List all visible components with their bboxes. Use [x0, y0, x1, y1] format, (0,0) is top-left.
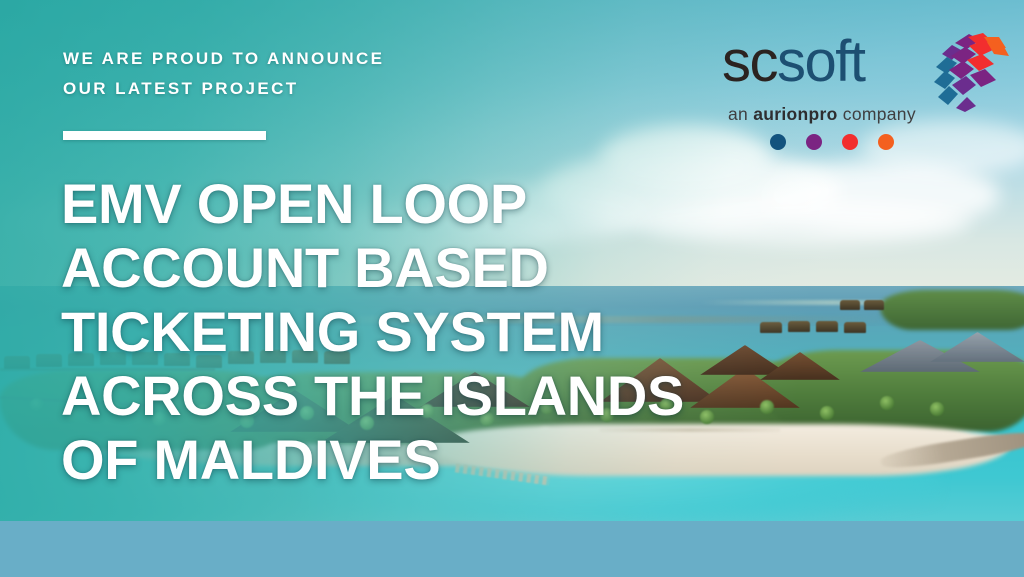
page-title: EMV OPEN LOOP ACCOUNT BASED TICKETING SY… [61, 172, 701, 492]
logo-wordmark-sc: sc [722, 29, 777, 94]
footer-bar [0, 521, 1024, 577]
scsoft-quilt-mark-icon [925, 28, 1009, 112]
logo-wordmark-soft: soft [777, 29, 865, 94]
headline-line-4: ACROSS THE ISLANDS [61, 364, 701, 428]
dot-blue [770, 134, 786, 150]
dot-purple [806, 134, 822, 150]
eyebrow-line-2: OUR LATEST PROJECT [63, 74, 583, 104]
tagline-suffix: company [838, 104, 916, 124]
headline-line-3: TICKETING SYSTEM [61, 300, 701, 364]
dot-orange [878, 134, 894, 150]
headline-line-1: EMV OPEN LOOP [61, 172, 701, 236]
logo-tagline: an aurionpro company [728, 104, 916, 125]
headline-line-2: ACCOUNT BASED [61, 236, 701, 300]
eyebrow-line-1: WE ARE PROUD TO ANNOUNCE [63, 44, 583, 74]
logo-wordmark: scsoft [722, 33, 865, 91]
headline-line-5: OF MALDIVES [61, 428, 701, 492]
tagline-prefix: an [728, 104, 753, 124]
divider-rule [63, 131, 266, 140]
scsoft-logo[interactable]: scsoft [722, 33, 1002, 161]
eyebrow-text: WE ARE PROUD TO ANNOUNCE OUR LATEST PROJ… [63, 44, 583, 104]
announcement-banner: WE ARE PROUD TO ANNOUNCE OUR LATEST PROJ… [0, 0, 1024, 577]
logo-dot-row [770, 134, 894, 150]
dot-red [842, 134, 858, 150]
tagline-brand: aurionpro [753, 104, 837, 124]
